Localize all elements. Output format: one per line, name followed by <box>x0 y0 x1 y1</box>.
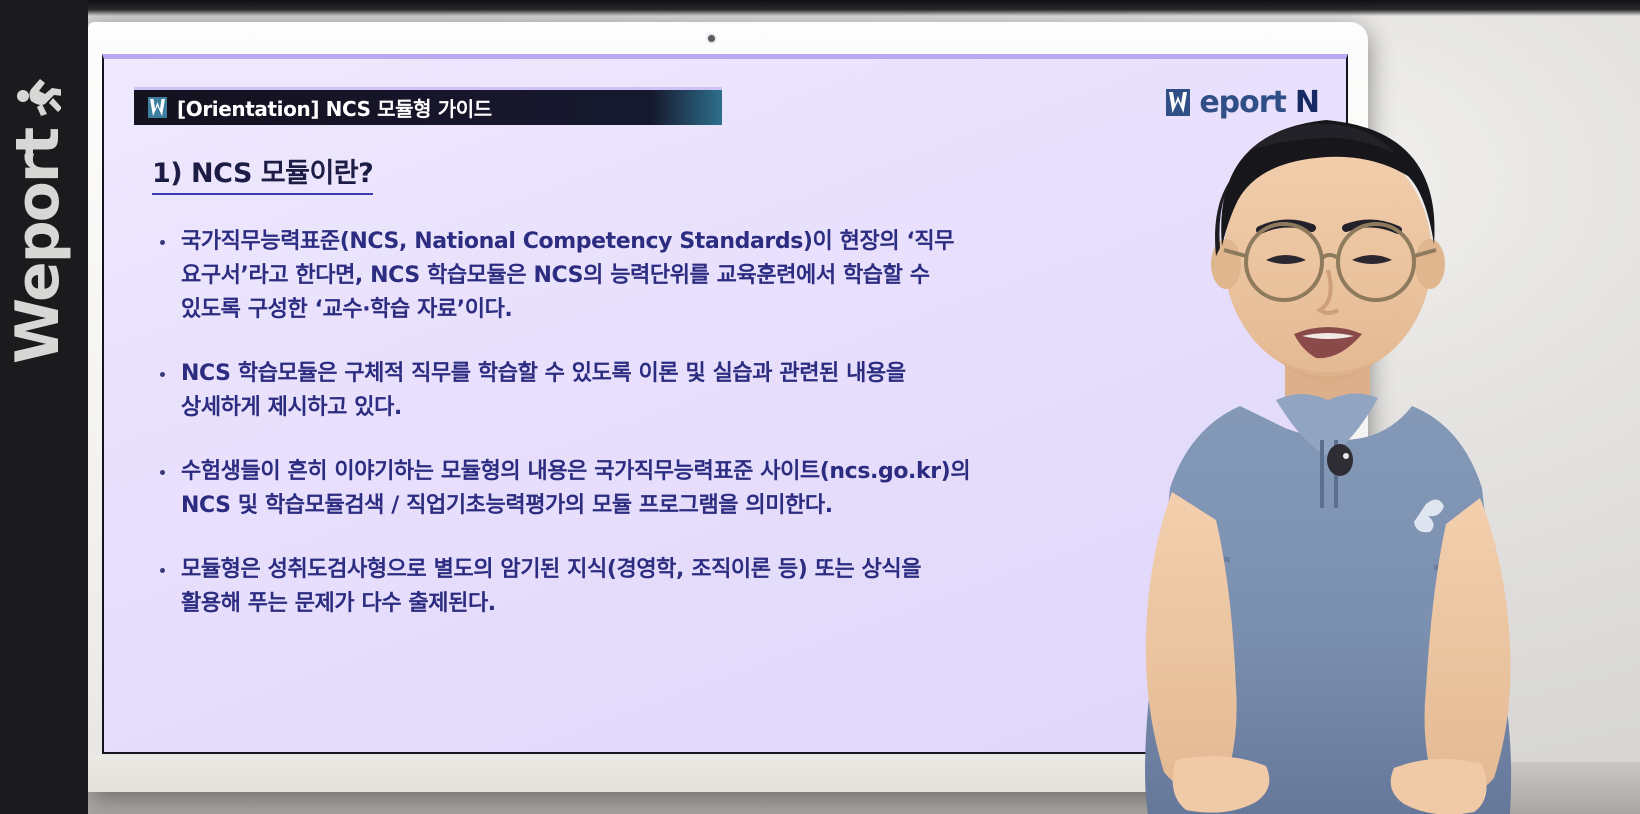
running-person-icon <box>15 77 61 123</box>
bullet-line: 상세하게 제시하고 있다. <box>181 391 906 425</box>
bullet-line: 국가직무능력표준(NCS, National Competency Standa… <box>181 225 954 259</box>
bullet-line: 수험생들이 흔히 이야기하는 모듈형의 내용은 국가직무능력표준 사이트(ncs… <box>181 455 970 489</box>
bullet-dot-icon <box>160 470 165 475</box>
wall-top-shadow <box>88 0 1640 16</box>
channel-watermark-band: Weport <box>0 0 88 814</box>
channel-watermark: Weport <box>2 24 74 364</box>
bullet-dot-icon <box>160 568 165 573</box>
bullet-line: 활용해 푸는 문제가 다수 출제된다. <box>181 587 921 621</box>
webcam-dot-icon <box>708 35 715 42</box>
weport-w-mark-icon <box>148 97 167 118</box>
bullet-dot-icon <box>160 372 165 377</box>
bullet-text: 국가직무능력표준(NCS, National Competency Standa… <box>181 225 954 327</box>
bullet-line: 모듈형은 성취도검사형으로 별도의 암기된 지식(경영학, 조직이론 등) 또는… <box>181 553 921 587</box>
slide-header-title: [Orientation] NCS 모듈형 가이드 <box>177 93 492 122</box>
bullet-line: NCS 학습모듈은 구체적 직무를 학습할 수 있도록 이론 및 실습과 관련된… <box>181 357 906 391</box>
presenter-person <box>1090 88 1560 814</box>
bullet-text: 모듈형은 성취도검사형으로 별도의 암기된 지식(경영학, 조직이론 등) 또는… <box>181 553 921 621</box>
bullet-text: 수험생들이 흔히 이야기하는 모듈형의 내용은 국가직무능력표준 사이트(ncs… <box>181 455 970 523</box>
bullet-line: NCS 및 학습모듈검색 / 직업기초능력평가의 모듈 프로그램을 의미한다. <box>181 489 970 523</box>
bullet-dot-icon <box>160 240 165 245</box>
slide-section-title: 1) NCS 모듈이란? <box>152 151 373 195</box>
channel-watermark-text: Weport <box>8 129 68 364</box>
monitor-top-bezel <box>88 22 1368 54</box>
bullet-text: NCS 학습모듈은 구체적 직무를 학습할 수 있도록 이론 및 실습과 관련된… <box>181 357 906 425</box>
video-frame: [Orientation] NCS 모듈형 가이드 eport N 1) <box>0 0 1640 814</box>
bullet-line: 요구서’라고 한다면, NCS 학습모듈은 NCS의 능력단위를 교육훈련에서 … <box>181 259 954 293</box>
bullet-line: 있도록 구성한 ‘교수·학습 자료’이다. <box>181 293 954 327</box>
slide-header-bar: [Orientation] NCS 모듈형 가이드 <box>134 87 722 125</box>
